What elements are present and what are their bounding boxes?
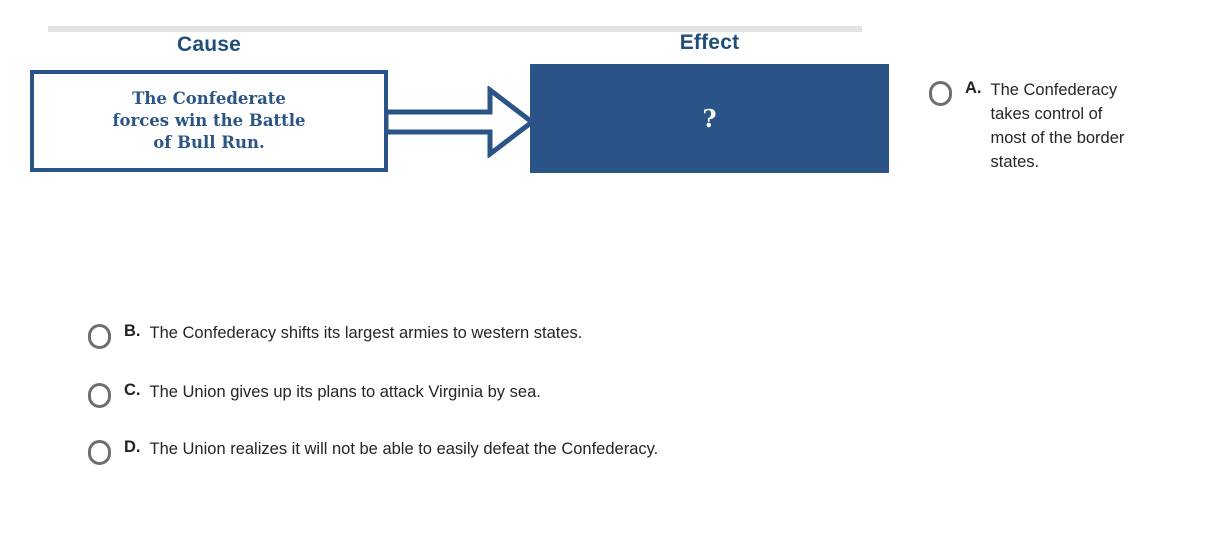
radio-button-c[interactable] [88, 383, 111, 408]
option-c-text: The Union gives up its plans to attack V… [150, 381, 541, 405]
radio-button-b[interactable] [88, 324, 111, 349]
option-a-letter: A. [965, 79, 982, 98]
option-a[interactable]: A. The Confederacy takes control of most… [929, 79, 1211, 175]
option-b[interactable]: B. The Confederacy shifts its largest ar… [88, 322, 888, 349]
option-d-text: The Union realizes it will not be able t… [150, 438, 770, 462]
cause-effect-diagram: Cause Effect The Confederate forces win … [0, 0, 910, 200]
cause-column-heading: Cause [30, 33, 388, 57]
option-b-text: The Confederacy shifts its largest armie… [150, 322, 583, 346]
option-c[interactable]: C. The Union gives up its plans to attac… [88, 381, 888, 408]
option-a-text: The Confederacy takes control of most of… [991, 79, 1141, 175]
radio-button-d[interactable] [88, 440, 111, 465]
effect-column-heading: Effect [530, 31, 889, 55]
cause-box-text: The Confederate forces win the Battle of… [102, 88, 315, 154]
option-d-letter: D. [124, 438, 141, 457]
effect-box-question-mark: ? [702, 104, 716, 133]
option-d[interactable]: D. The Union realizes it will not be abl… [88, 438, 828, 465]
cause-box: The Confederate forces win the Battle of… [30, 70, 388, 172]
right-arrow-icon [386, 86, 534, 158]
option-c-letter: C. [124, 381, 141, 400]
option-b-letter: B. [124, 322, 141, 341]
effect-box: ? [530, 64, 889, 173]
radio-button-a[interactable] [929, 81, 952, 106]
